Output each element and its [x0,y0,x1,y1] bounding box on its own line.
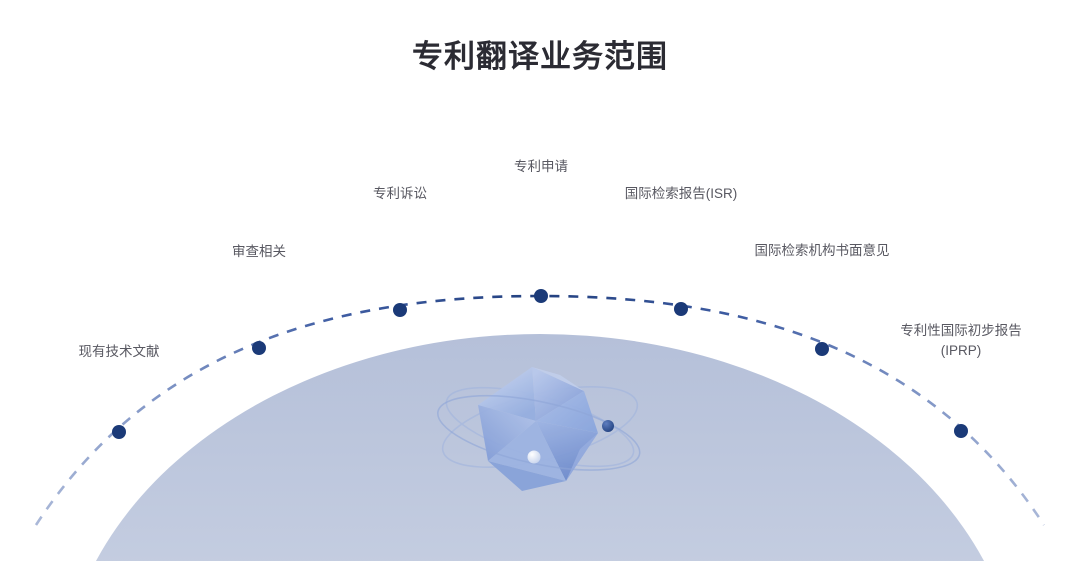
orbit-particle-dark [602,420,614,432]
arc-node-dot-5[interactable] [674,302,688,316]
arc-node-dot-6[interactable] [815,342,829,356]
orbit-particle-light [528,451,541,464]
node-label-7-line-2: (IPRP) [876,341,1046,361]
arc-node-dot-7[interactable] [954,424,968,438]
node-label-6[interactable]: 国际检索机构书面意见 [755,241,890,261]
arc-node-dot-1[interactable] [112,425,126,439]
arc-node-dot-3[interactable] [393,303,407,317]
node-label-5[interactable]: 国际检索报告(ISR) [625,184,738,204]
node-label-2[interactable]: 审查相关 [232,242,286,262]
node-label-7-line-1: 专利性国际初步报告 [876,321,1046,341]
arc-node-dot-4[interactable] [534,289,548,303]
node-label-4[interactable]: 专利申请 [514,157,568,177]
node-label-1[interactable]: 现有技术文献 [79,342,160,362]
node-label-4-line-1: 专利申请 [514,157,568,177]
node-label-1-line-1: 现有技术文献 [79,342,160,362]
node-label-6-line-1: 国际检索机构书面意见 [755,241,890,261]
node-label-2-line-1: 审查相关 [232,242,286,262]
infographic-canvas: 专利翻译业务范围 [0,0,1080,561]
node-label-7[interactable]: 专利性国际初步报告(IPRP) [876,321,1046,362]
arc-diagram [0,0,1080,561]
arc-node-dot-2[interactable] [252,341,266,355]
node-label-3-line-1: 专利诉讼 [373,184,427,204]
node-label-3[interactable]: 专利诉讼 [373,184,427,204]
node-label-5-line-1: 国际检索报告(ISR) [625,184,738,204]
